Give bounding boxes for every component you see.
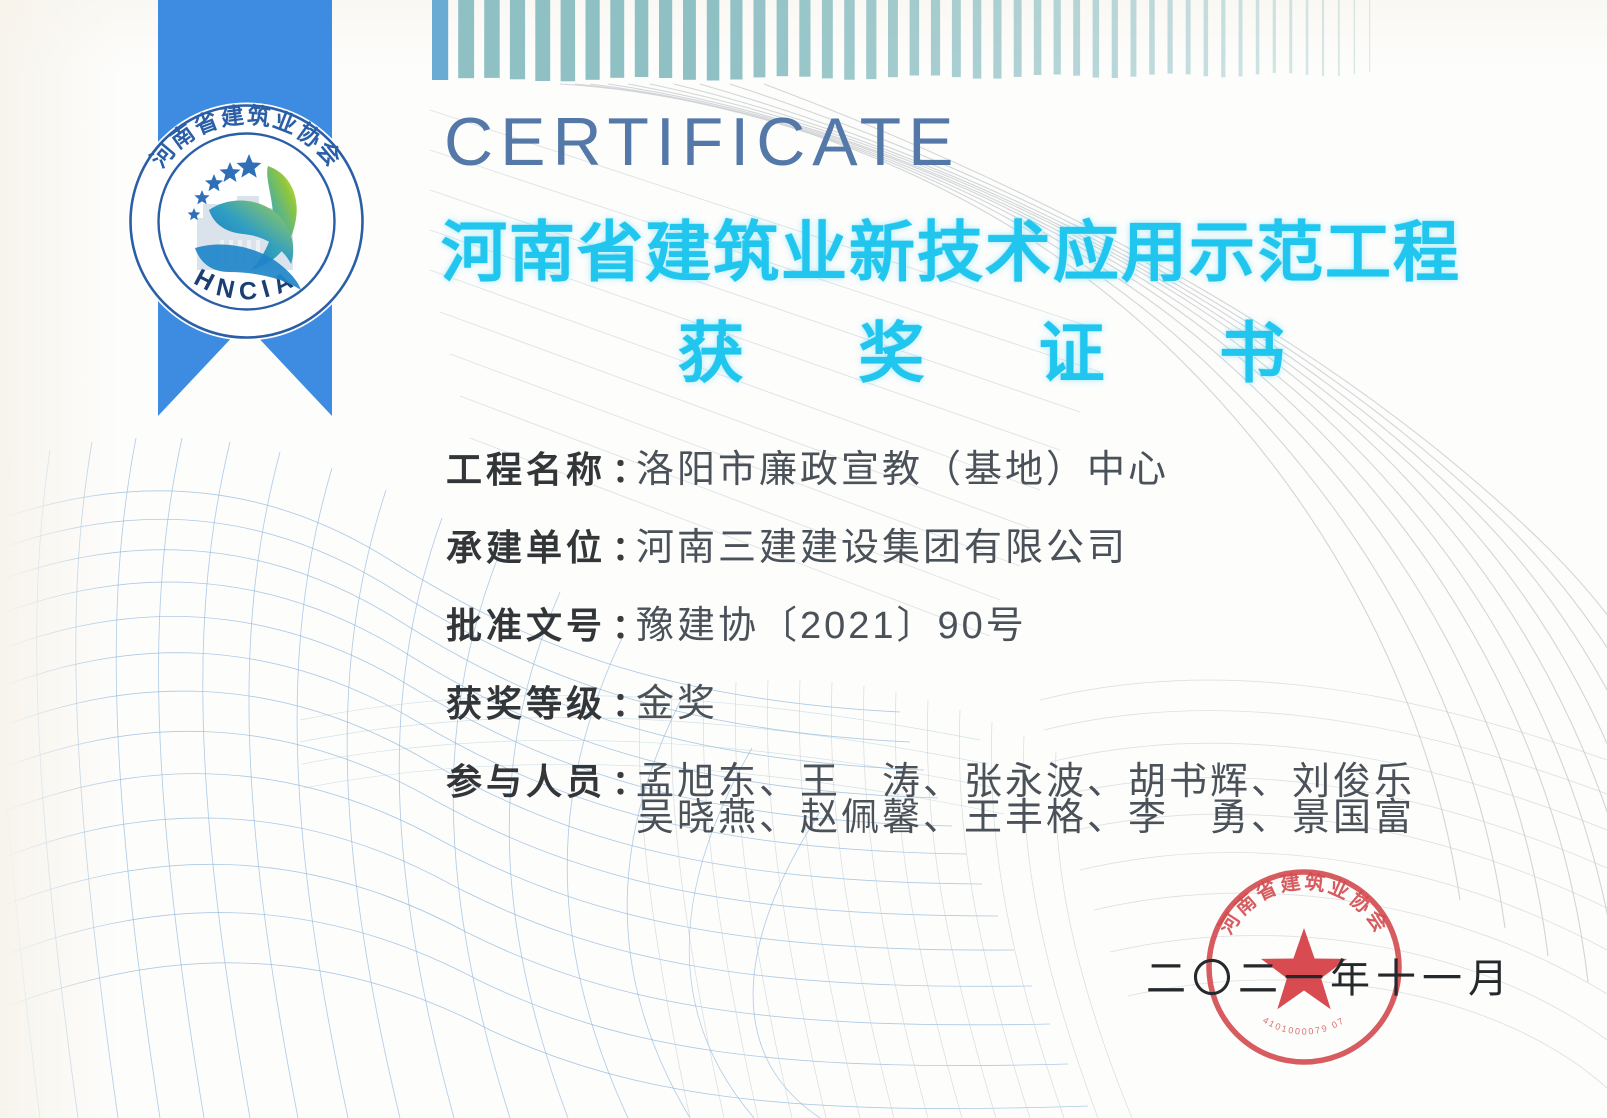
field-row-approval-number: 批准文号 ： 豫建协〔2021〕90号	[446, 594, 1446, 672]
certificate-chinese-title-line1: 河南省建筑业新技术应用示范工程	[441, 199, 1461, 295]
field-colon: ：	[612, 755, 636, 804]
field-value-project-name: 洛阳市廉政宣教（基地）中心	[636, 438, 1446, 493]
field-colon: ：	[612, 677, 636, 726]
hncia-emblem-logo: 河南省建筑业协会 HNCIA	[125, 100, 368, 343]
field-value-approval-number: 豫建协〔2021〕90号	[636, 594, 1446, 649]
field-label-award-level: 获奖等级	[446, 675, 612, 727]
field-label-approval-number: 批准文号	[446, 597, 612, 649]
field-colon: ：	[612, 521, 636, 570]
certificate-english-title: CERTIFICATE	[444, 103, 961, 181]
issue-date: 二〇二一年十一月	[1146, 946, 1514, 1004]
field-label-participants: 参与人员	[446, 753, 612, 805]
field-value-contractor: 河南三建建设集团有限公司	[636, 516, 1446, 571]
seal-serial: 4101000079 07	[1261, 1015, 1347, 1037]
certificate-page: 河南省建筑业协会 HNCIA	[0, 0, 1607, 1118]
svg-text:河南省建筑业协会: 河南省建筑业协会	[1215, 869, 1394, 938]
field-label-contractor: 承建单位	[446, 519, 612, 571]
field-row-award-level: 获奖等级 ： 金奖	[446, 672, 1446, 750]
field-value-participants-line2: 吴晓燕、赵佩馨、王丰格、李 勇、景国富	[636, 786, 1415, 841]
paper-edge-tint-top	[0, 0, 1607, 70]
field-colon: ：	[612, 443, 636, 492]
field-value-award-level: 金奖	[636, 672, 1446, 727]
field-label-project-name: 工程名称	[446, 441, 612, 493]
field-row-contractor: 承建单位 ： 河南三建建设集团有限公司	[446, 516, 1446, 594]
paper-edge-tint-left	[0, 0, 120, 1118]
certificate-fields: 工程名称 ： 洛阳市廉政宣教（基地）中心 承建单位 ： 河南三建建设集团有限公司…	[446, 438, 1446, 828]
field-colon: ：	[612, 599, 636, 648]
field-row-project-name: 工程名称 ： 洛阳市廉政宣教（基地）中心	[446, 438, 1446, 516]
certificate-chinese-title-line2: 获 奖 证 书	[678, 300, 1333, 396]
top-stripe-band	[430, 0, 1607, 84]
svg-text:4101000079 07: 4101000079 07	[1261, 1015, 1347, 1037]
seal-org-name: 河南省建筑业协会	[1215, 869, 1394, 938]
